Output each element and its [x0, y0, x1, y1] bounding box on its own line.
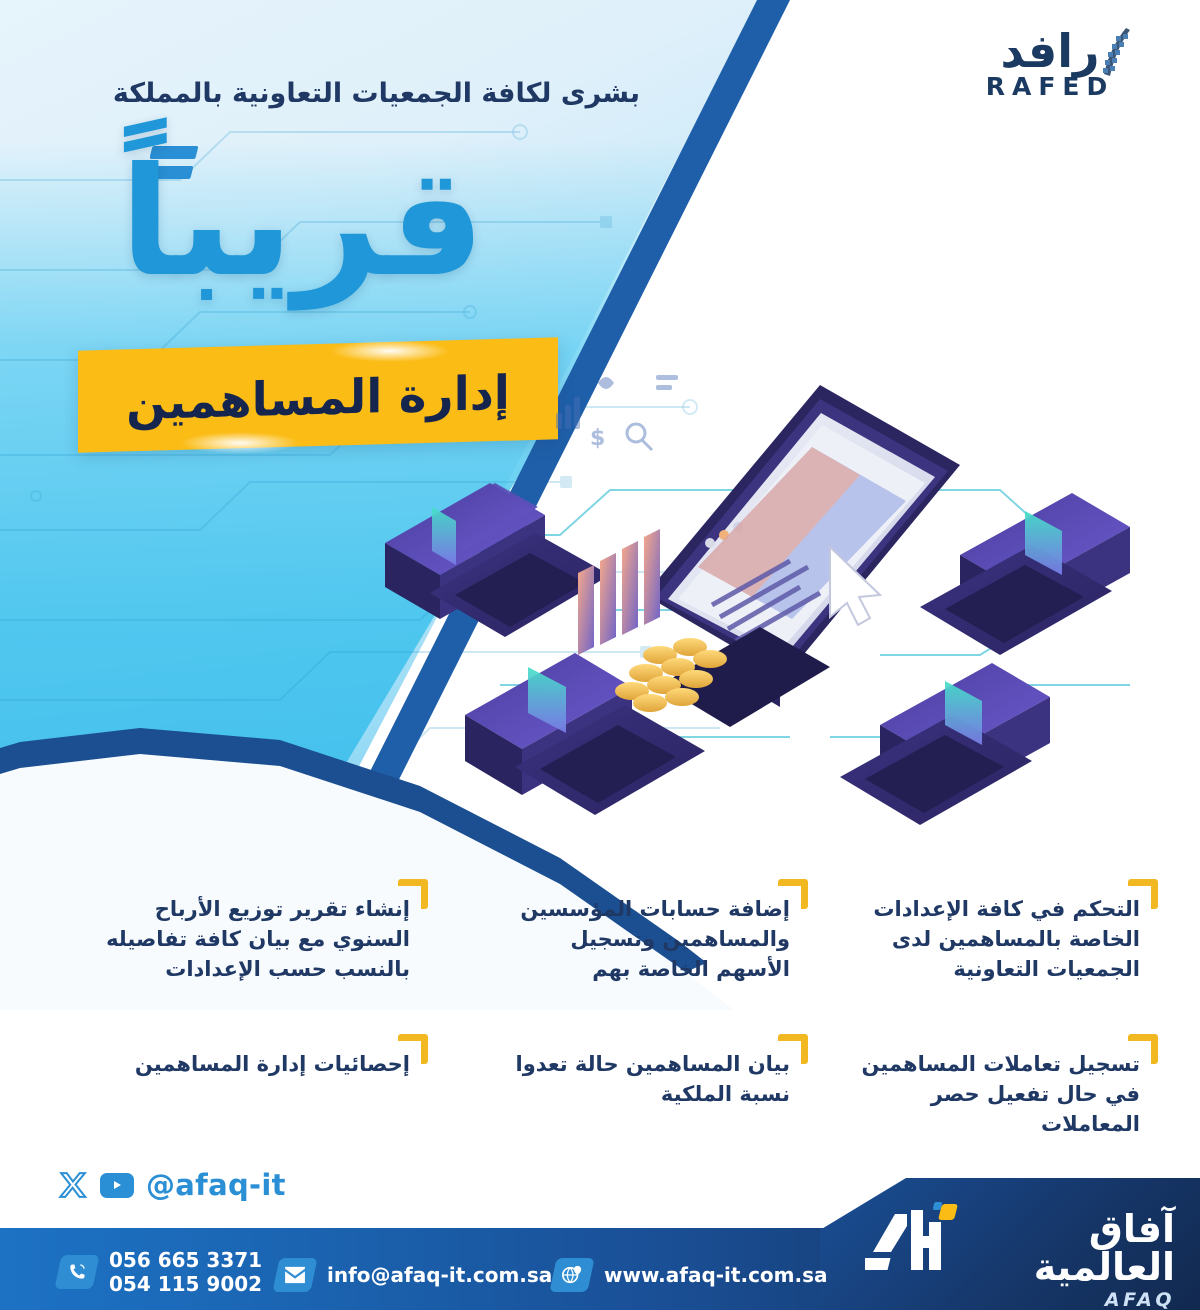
corner-bracket-icon: [398, 879, 428, 909]
rafed-mark-icon: [1086, 22, 1138, 94]
x-twitter-icon[interactable]: [58, 1170, 88, 1200]
social-row: @afaq-it: [58, 1168, 286, 1202]
feature-label: إضافة حسابات المؤسسين والمساهمين وتسجيل …: [490, 895, 790, 984]
afaq-name-arabic: آفاق العالمية: [975, 1210, 1175, 1286]
svg-text:$: $: [590, 426, 605, 451]
feature-ownership-exceed: بيان المساهمين حالة تعدوا نسبة الملكية: [490, 1050, 790, 1110]
afaq-name-latin: AFAQ INTERNATIONAL: [975, 1289, 1175, 1310]
feature-label: إنشاء تقرير توزيع الأرباح السنوي مع بيان…: [100, 895, 410, 984]
isometric-illustration: $: [360, 355, 1160, 885]
social-handle[interactable]: @afaq-it: [146, 1168, 286, 1202]
laptop-top-left: [385, 483, 610, 637]
afaq-mark-icon: [865, 1200, 973, 1280]
corner-bracket-icon: [1128, 1034, 1158, 1064]
email-address[interactable]: info@afaq-it.com.sa: [327, 1263, 552, 1287]
feature-label: تسجيل تعاملات المساهمين في حال تفعيل حصر…: [840, 1050, 1140, 1139]
phone-numbers: 056 665 3371 054 115 9002: [109, 1248, 262, 1297]
feature-settings-control: التحكم في كافة الإعدادات الخاصة بالمساهم…: [840, 895, 1140, 984]
afaq-logo: آفاق العالمية AFAQ INTERNATIONAL: [865, 1198, 1175, 1298]
laptop-bottom-right: [840, 663, 1050, 825]
infographic-poster: بشرى لكافة الجمعيات التعاونية بالمملكة ر…: [0, 0, 1200, 1310]
website-url[interactable]: www.afaq-it.com.sa: [604, 1263, 828, 1287]
corner-bracket-icon: [398, 1034, 428, 1064]
floating-icons: $: [556, 375, 678, 451]
main-title-soon: قريباً: [120, 148, 485, 298]
phone-icon: [54, 1255, 99, 1289]
contact-phone: 056 665 3371 054 115 9002: [58, 1248, 262, 1297]
feature-label: بيان المساهمين حالة تعدوا نسبة الملكية: [490, 1050, 790, 1110]
youtube-icon[interactable]: [100, 1173, 134, 1198]
envelope-icon: [272, 1258, 317, 1292]
phone-line-1: 056 665 3371: [109, 1248, 262, 1272]
subheadline: بشرى لكافة الجمعيات التعاونية بالمملكة: [40, 78, 640, 109]
contact-email: info@afaq-it.com.sa: [276, 1258, 552, 1292]
feature-label: التحكم في كافة الإعدادات الخاصة بالمساهم…: [840, 895, 1140, 984]
corner-bracket-icon: [1128, 879, 1158, 909]
globe-pin-icon: [549, 1258, 594, 1292]
bar-chart-decor: [578, 529, 660, 655]
feature-add-accounts: إضافة حسابات المؤسسين والمساهمين وتسجيل …: [490, 895, 790, 984]
feature-transactions-log: تسجيل تعاملات المساهمين في حال تفعيل حصر…: [840, 1050, 1140, 1139]
corner-bracket-icon: [778, 1034, 808, 1064]
feature-profit-report: إنشاء تقرير توزيع الأرباح السنوي مع بيان…: [100, 895, 410, 984]
laptop-top-right: [920, 493, 1130, 655]
corner-bracket-icon: [778, 879, 808, 909]
feature-statistics: إحصائيات إدارة المساهمين: [110, 1050, 410, 1080]
contact-website: www.afaq-it.com.sa: [553, 1258, 828, 1292]
rafed-logo: رافد RAFED: [960, 28, 1140, 148]
phone-line-2: 054 115 9002: [109, 1272, 262, 1296]
feature-label: إحصائيات إدارة المساهمين: [110, 1050, 410, 1080]
